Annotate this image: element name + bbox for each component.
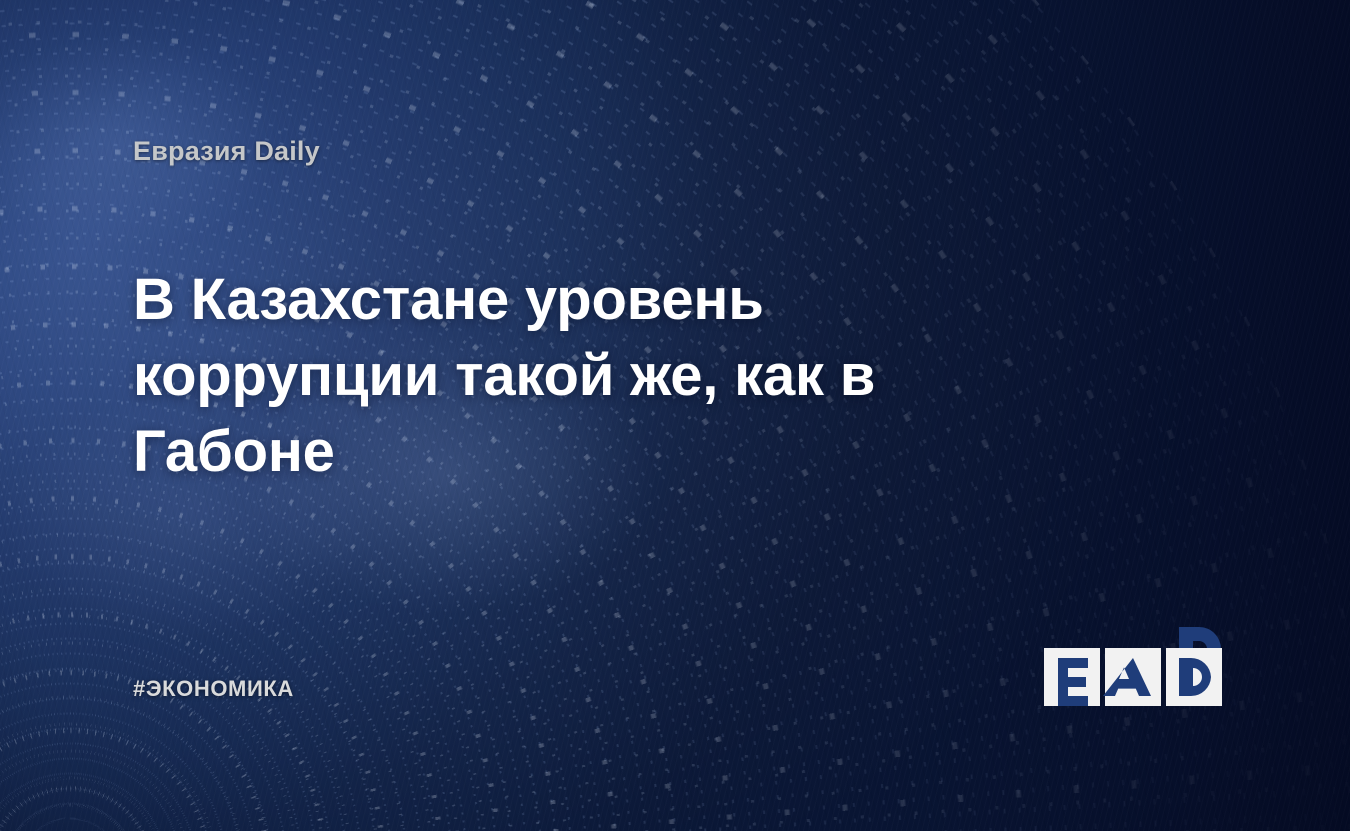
category-hashtag[interactable]: #ЭКОНОМИКА <box>133 676 294 702</box>
page-title: В Казахстане уровень коррупции такой же,… <box>133 262 1063 490</box>
card-content: Евразия Daily В Казахстане уровень корру… <box>0 0 1350 831</box>
eadaily-logo[interactable] <box>1043 624 1223 710</box>
share-card: Евразия Daily В Казахстане уровень корру… <box>0 0 1350 831</box>
brand-name: Евразия Daily <box>133 136 320 167</box>
eadaily-logo-icon <box>1043 624 1223 710</box>
